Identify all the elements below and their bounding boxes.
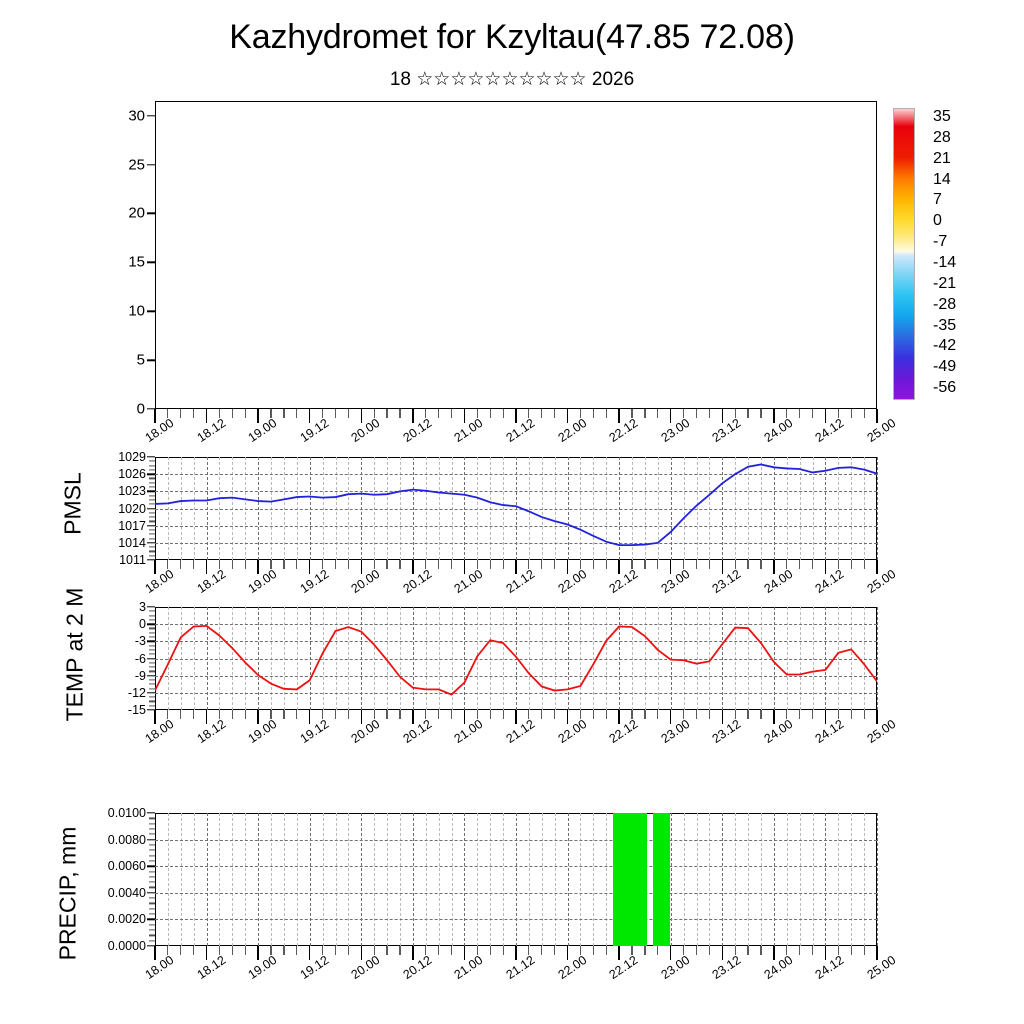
x-tick-minor bbox=[644, 710, 645, 719]
x-tick-minor bbox=[709, 560, 710, 569]
x-tick-minor bbox=[296, 710, 297, 719]
x-tick-minor bbox=[812, 409, 813, 418]
y-tick-minor bbox=[149, 828, 155, 829]
x-axis-label: 24.12 bbox=[813, 567, 847, 596]
pmsl-line-chart bbox=[155, 457, 877, 560]
colorbar-tick-label: -42 bbox=[933, 337, 956, 355]
y-axis-label: 3 bbox=[139, 600, 155, 614]
x-axis-label: 25.00 bbox=[865, 567, 899, 596]
x-axis-label: 19.00 bbox=[246, 567, 280, 596]
x-axis-label: 22.00 bbox=[555, 717, 589, 746]
x-axis-label: 20.00 bbox=[349, 953, 383, 982]
x-tick-minor bbox=[245, 560, 246, 569]
x-axis-label: 19.00 bbox=[246, 953, 280, 982]
x-tick-minor bbox=[180, 409, 181, 418]
x-tick-minor bbox=[541, 946, 542, 955]
grid-line-vertical bbox=[258, 813, 259, 946]
y-tick-minor bbox=[149, 823, 155, 824]
x-tick-minor bbox=[438, 710, 439, 719]
x-tick-major bbox=[257, 946, 258, 960]
grid-line-vertical bbox=[310, 813, 311, 946]
grid-line-vertical bbox=[439, 813, 440, 946]
y-tick-minor bbox=[149, 850, 155, 851]
precip-bar bbox=[613, 813, 647, 946]
x-tick-minor bbox=[696, 560, 697, 569]
colorbar: 3528211470-7-14-21-28-35-42-49-56 bbox=[893, 108, 915, 400]
y-axis-label: 30 bbox=[128, 107, 155, 124]
x-tick-major bbox=[876, 946, 877, 960]
y-tick-minor bbox=[149, 465, 155, 466]
grid-line-vertical bbox=[503, 813, 504, 946]
x-tick-major bbox=[567, 409, 568, 423]
grid-line-vertical bbox=[735, 813, 736, 946]
y-tick-minor bbox=[149, 876, 155, 877]
colorbar-tick-label: 28 bbox=[933, 129, 951, 147]
pmsl-series-line bbox=[155, 464, 877, 545]
x-tick-major bbox=[670, 409, 671, 423]
x-axis-label: 20.12 bbox=[400, 953, 434, 982]
x-tick-major bbox=[773, 710, 774, 724]
x-axis-label: 19.12 bbox=[297, 953, 331, 982]
temp-line-chart bbox=[155, 607, 877, 710]
grid-line-vertical bbox=[207, 813, 208, 946]
x-axis-label: 22.00 bbox=[555, 567, 589, 596]
y-tick-minor bbox=[149, 882, 155, 883]
x-tick-minor bbox=[386, 560, 387, 569]
y-axis-label: 0.0100 bbox=[108, 806, 155, 820]
x-axis-label: 24.00 bbox=[761, 567, 795, 596]
x-tick-minor bbox=[554, 710, 555, 719]
x-tick-minor bbox=[451, 409, 452, 418]
x-tick-minor bbox=[709, 710, 710, 719]
y-tick-minor bbox=[149, 684, 155, 685]
y-axis-label: 0.0080 bbox=[108, 833, 155, 847]
y-axis-label: 0.0060 bbox=[108, 859, 155, 873]
x-tick-minor bbox=[593, 409, 594, 418]
precip-bar bbox=[653, 813, 670, 946]
x-tick-minor bbox=[593, 560, 594, 569]
x-tick-minor bbox=[760, 409, 761, 418]
x-tick-minor bbox=[232, 710, 233, 719]
grid-line-vertical bbox=[825, 813, 826, 946]
grid-line-vertical bbox=[555, 813, 556, 946]
x-tick-minor bbox=[399, 409, 400, 418]
grid-line-vertical bbox=[387, 813, 388, 946]
x-axis-label: 19.12 bbox=[297, 717, 331, 746]
x-tick-minor bbox=[709, 946, 710, 955]
y-tick-minor bbox=[149, 935, 155, 936]
x-axis-label: 20.12 bbox=[400, 416, 434, 445]
x-tick-minor bbox=[657, 560, 658, 569]
y-tick-minor bbox=[149, 534, 155, 535]
grid-line-vertical bbox=[838, 813, 839, 946]
x-axis-label: 25.00 bbox=[865, 953, 899, 982]
x-tick-minor bbox=[799, 710, 800, 719]
grid-line-horizontal bbox=[155, 840, 877, 841]
x-tick-minor bbox=[283, 946, 284, 955]
x-tick-minor bbox=[399, 560, 400, 569]
x-axis-label: 21.12 bbox=[504, 416, 538, 445]
x-tick-minor bbox=[799, 560, 800, 569]
x-axis-label: 21.12 bbox=[504, 567, 538, 596]
x-tick-major bbox=[773, 946, 774, 960]
x-tick-minor bbox=[335, 560, 336, 569]
x-axis-label: 21.00 bbox=[452, 717, 486, 746]
x-axis-label: 20.12 bbox=[400, 567, 434, 596]
y-tick-minor bbox=[149, 469, 155, 470]
x-axis-label: 21.00 bbox=[452, 416, 486, 445]
x-tick-minor bbox=[760, 560, 761, 569]
y-tick-minor bbox=[149, 860, 155, 861]
grid-line-vertical bbox=[606, 813, 607, 946]
temp-series-line bbox=[155, 626, 877, 695]
grid-line-vertical bbox=[722, 813, 723, 946]
grid-line-vertical bbox=[877, 607, 878, 710]
x-tick-minor bbox=[335, 946, 336, 955]
x-tick-minor bbox=[193, 409, 194, 418]
x-axis-label: 22.12 bbox=[607, 717, 641, 746]
x-axis-label: 20.12 bbox=[400, 717, 434, 746]
x-axis-label: 18.00 bbox=[143, 717, 177, 746]
y-tick-minor bbox=[149, 555, 155, 556]
x-tick-major bbox=[361, 946, 362, 960]
x-tick-minor bbox=[593, 946, 594, 955]
x-tick-minor bbox=[503, 946, 504, 955]
x-tick-minor bbox=[386, 409, 387, 418]
x-tick-major bbox=[412, 710, 413, 724]
x-axis-label: 23.00 bbox=[658, 953, 692, 982]
x-tick-major bbox=[825, 946, 826, 960]
x-tick-minor bbox=[503, 710, 504, 719]
grid-line-vertical bbox=[361, 813, 362, 946]
precip-panel: 0.00000.00200.00400.00600.00800.010018.0… bbox=[155, 813, 877, 946]
x-tick-minor bbox=[864, 409, 865, 418]
x-tick-minor bbox=[644, 409, 645, 418]
y-tick-minor bbox=[149, 705, 155, 706]
grid-line-vertical bbox=[542, 813, 543, 946]
x-tick-minor bbox=[503, 409, 504, 418]
x-tick-major bbox=[515, 560, 516, 574]
x-axis-label: 21.12 bbox=[504, 953, 538, 982]
y-tick-minor bbox=[149, 666, 155, 667]
y-tick-minor bbox=[149, 887, 155, 888]
y-axis-label: 1029 bbox=[118, 450, 155, 464]
x-tick-major bbox=[825, 710, 826, 724]
x-tick-major bbox=[361, 409, 362, 423]
x-tick-minor bbox=[245, 409, 246, 418]
x-tick-minor bbox=[606, 560, 607, 569]
grid-line-vertical bbox=[426, 813, 427, 946]
x-tick-minor bbox=[864, 710, 865, 719]
x-axis-label: 19.00 bbox=[246, 416, 280, 445]
x-tick-minor bbox=[812, 946, 813, 955]
y-axis-label: 5 bbox=[137, 352, 155, 369]
x-tick-major bbox=[773, 409, 774, 423]
x-tick-minor bbox=[283, 409, 284, 418]
x-tick-minor bbox=[696, 710, 697, 719]
grid-line-horizontal bbox=[155, 866, 877, 867]
y-tick-minor bbox=[149, 654, 155, 655]
x-tick-minor bbox=[864, 946, 865, 955]
x-tick-major bbox=[206, 946, 207, 960]
x-axis-label: 19.00 bbox=[246, 717, 280, 746]
grid-line-vertical bbox=[297, 813, 298, 946]
x-tick-minor bbox=[696, 409, 697, 418]
x-tick-minor bbox=[812, 560, 813, 569]
y-axis-label: 20 bbox=[128, 205, 155, 222]
grid-line-vertical bbox=[709, 813, 710, 946]
x-tick-major bbox=[206, 560, 207, 574]
colorbar-tick-label: -35 bbox=[933, 317, 956, 335]
x-tick-major bbox=[412, 560, 413, 574]
x-tick-major bbox=[567, 946, 568, 960]
subtitle-year: 2026 bbox=[592, 69, 634, 90]
x-axis-label: 22.00 bbox=[555, 953, 589, 982]
grid-line-vertical bbox=[593, 813, 594, 946]
y-tick-minor bbox=[149, 632, 155, 633]
x-tick-minor bbox=[438, 560, 439, 569]
subtitle-month-glyphs: ☆☆☆☆☆☆☆☆☆☆ bbox=[416, 69, 586, 90]
x-tick-major bbox=[876, 710, 877, 724]
y-tick-minor bbox=[149, 671, 155, 672]
x-tick-minor bbox=[232, 946, 233, 955]
x-tick-minor bbox=[644, 946, 645, 955]
colorbar-tick-label: -7 bbox=[933, 233, 947, 251]
x-tick-minor bbox=[490, 409, 491, 418]
x-tick-minor bbox=[399, 710, 400, 719]
x-axis-label: 23.12 bbox=[710, 416, 744, 445]
x-tick-minor bbox=[503, 560, 504, 569]
x-tick-minor bbox=[709, 409, 710, 418]
x-tick-major bbox=[464, 409, 465, 423]
x-tick-minor bbox=[245, 946, 246, 955]
x-axis-label: 21.12 bbox=[504, 717, 538, 746]
x-axis-label: 25.00 bbox=[865, 717, 899, 746]
grid-line-vertical bbox=[813, 813, 814, 946]
x-tick-minor bbox=[438, 946, 439, 955]
wind-barb-overlay bbox=[155, 101, 877, 409]
grid-line-vertical bbox=[864, 813, 865, 946]
x-tick-minor bbox=[760, 946, 761, 955]
x-tick-major bbox=[825, 409, 826, 423]
x-axis-label: 18.00 bbox=[143, 953, 177, 982]
grid-line-horizontal bbox=[155, 893, 877, 894]
x-tick-major bbox=[412, 946, 413, 960]
x-axis-label: 19.12 bbox=[297, 567, 331, 596]
grid-line-vertical bbox=[697, 813, 698, 946]
grid-line-vertical bbox=[323, 813, 324, 946]
y-tick-minor bbox=[149, 903, 155, 904]
x-tick-minor bbox=[180, 710, 181, 719]
y-axis-label: 25 bbox=[128, 156, 155, 173]
y-axis-label: 15 bbox=[128, 254, 155, 271]
x-tick-major bbox=[722, 560, 723, 574]
x-tick-major bbox=[618, 946, 619, 960]
y-tick-minor bbox=[149, 499, 155, 500]
x-tick-major bbox=[309, 710, 310, 724]
y-tick-minor bbox=[149, 701, 155, 702]
x-tick-minor bbox=[193, 946, 194, 955]
pmsl-panel: 101110141017102010231026102918.0018.1219… bbox=[155, 457, 877, 560]
x-tick-major bbox=[515, 710, 516, 724]
x-tick-minor bbox=[747, 560, 748, 569]
y-tick-minor bbox=[149, 521, 155, 522]
x-tick-major bbox=[670, 560, 671, 574]
colorbar-tick-label: 14 bbox=[933, 171, 951, 189]
x-tick-minor bbox=[541, 409, 542, 418]
x-tick-major bbox=[257, 409, 258, 423]
y-tick-minor bbox=[149, 908, 155, 909]
x-axis-label: 20.00 bbox=[349, 717, 383, 746]
x-tick-major bbox=[361, 710, 362, 724]
grid-line-vertical bbox=[877, 813, 878, 946]
x-tick-major bbox=[825, 560, 826, 574]
x-axis-label: 24.12 bbox=[813, 416, 847, 445]
x-tick-minor bbox=[760, 710, 761, 719]
x-tick-minor bbox=[348, 560, 349, 569]
x-tick-minor bbox=[451, 710, 452, 719]
x-tick-minor bbox=[335, 710, 336, 719]
x-axis-label: 23.12 bbox=[710, 953, 744, 982]
x-axis-label: 18.12 bbox=[194, 717, 228, 746]
x-tick-major bbox=[206, 710, 207, 724]
x-axis-label: 22.12 bbox=[607, 953, 641, 982]
y-tick-minor bbox=[149, 929, 155, 930]
x-tick-minor bbox=[554, 409, 555, 418]
y-axis-label: 0.0020 bbox=[108, 912, 155, 926]
x-tick-minor bbox=[490, 946, 491, 955]
grid-line-vertical bbox=[232, 813, 233, 946]
x-tick-minor bbox=[193, 560, 194, 569]
x-tick-minor bbox=[851, 710, 852, 719]
x-axis-label: 18.12 bbox=[194, 567, 228, 596]
x-axis-label: 23.00 bbox=[658, 416, 692, 445]
x-tick-minor bbox=[296, 409, 297, 418]
x-tick-minor bbox=[348, 946, 349, 955]
x-tick-major bbox=[515, 409, 516, 423]
grid-line-vertical bbox=[413, 813, 414, 946]
x-axis-label: 20.00 bbox=[349, 567, 383, 596]
x-tick-minor bbox=[348, 710, 349, 719]
grid-line-vertical bbox=[748, 813, 749, 946]
x-axis-label: 23.00 bbox=[658, 567, 692, 596]
colorbar-tick-label: 21 bbox=[933, 150, 951, 168]
x-tick-minor bbox=[747, 710, 748, 719]
cross-section-panel: 18.0018.1219.0019.1220.0020.1221.0021.12… bbox=[155, 101, 877, 409]
colorbar-tick-label: -21 bbox=[933, 275, 956, 293]
x-tick-major bbox=[670, 946, 671, 960]
y-tick-minor bbox=[149, 538, 155, 539]
y-tick-minor bbox=[149, 516, 155, 517]
x-tick-major bbox=[464, 946, 465, 960]
y-tick-minor bbox=[149, 940, 155, 941]
x-axis-label: 22.00 bbox=[555, 416, 589, 445]
x-tick-minor bbox=[799, 409, 800, 418]
y-tick-minor bbox=[149, 504, 155, 505]
x-tick-minor bbox=[799, 946, 800, 955]
grid-line-vertical bbox=[374, 813, 375, 946]
x-tick-minor bbox=[606, 946, 607, 955]
x-axis-label: 23.12 bbox=[710, 717, 744, 746]
x-tick-major bbox=[412, 409, 413, 423]
x-tick-major bbox=[464, 560, 465, 574]
y-axis-label: 0 bbox=[137, 401, 155, 418]
grid-line-vertical bbox=[452, 813, 453, 946]
grid-line-vertical bbox=[529, 813, 530, 946]
grid-line-horizontal bbox=[155, 919, 877, 920]
grid-line-vertical bbox=[774, 813, 775, 946]
y-axis-label: 0.0000 bbox=[108, 939, 155, 953]
y-tick-minor bbox=[149, 913, 155, 914]
x-axis-label: 24.12 bbox=[813, 717, 847, 746]
subtitle-day: 18 bbox=[390, 69, 411, 90]
x-tick-minor bbox=[851, 946, 852, 955]
page-title: Kazhydromet for Kzyltau(47.85 72.08) bbox=[0, 18, 1024, 57]
x-tick-major bbox=[154, 946, 155, 960]
x-tick-minor bbox=[335, 409, 336, 418]
grid-line-vertical bbox=[761, 813, 762, 946]
y-tick-minor bbox=[149, 688, 155, 689]
x-axis-label: 18.12 bbox=[194, 416, 228, 445]
x-tick-minor bbox=[386, 710, 387, 719]
x-axis-label: 23.00 bbox=[658, 717, 692, 746]
x-axis-label: 22.12 bbox=[607, 416, 641, 445]
x-tick-major bbox=[567, 710, 568, 724]
x-tick-minor bbox=[245, 710, 246, 719]
grid-line-vertical bbox=[400, 813, 401, 946]
x-tick-minor bbox=[541, 560, 542, 569]
precip-axis-title: PRECIP, mm bbox=[55, 764, 82, 1024]
x-axis-label: 24.00 bbox=[761, 953, 795, 982]
y-tick-minor bbox=[149, 855, 155, 856]
grid-line-vertical bbox=[477, 813, 478, 946]
x-tick-minor bbox=[812, 710, 813, 719]
x-axis-label: 21.00 bbox=[452, 567, 486, 596]
grid-line-vertical bbox=[787, 813, 788, 946]
x-tick-major bbox=[515, 946, 516, 960]
grid-line-vertical bbox=[684, 813, 685, 946]
x-tick-minor bbox=[606, 710, 607, 719]
x-tick-minor bbox=[386, 946, 387, 955]
grid-line-vertical bbox=[671, 813, 672, 946]
grid-line-vertical bbox=[877, 457, 878, 560]
grid-line-vertical bbox=[219, 813, 220, 946]
x-tick-major bbox=[773, 560, 774, 574]
x-axis-label: 18.12 bbox=[194, 953, 228, 982]
x-axis-label: 18.00 bbox=[143, 416, 177, 445]
y-tick-minor bbox=[149, 649, 155, 650]
grid-line-vertical bbox=[181, 813, 182, 946]
x-tick-major bbox=[876, 409, 877, 423]
x-axis-label: 24.12 bbox=[813, 953, 847, 982]
x-tick-minor bbox=[193, 710, 194, 719]
x-tick-major bbox=[257, 710, 258, 724]
grid-line-vertical bbox=[245, 813, 246, 946]
x-tick-minor bbox=[180, 946, 181, 955]
y-tick-minor bbox=[149, 615, 155, 616]
x-tick-minor bbox=[657, 409, 658, 418]
y-tick-minor bbox=[149, 486, 155, 487]
x-tick-minor bbox=[490, 710, 491, 719]
x-tick-major bbox=[618, 409, 619, 423]
grid-line-vertical bbox=[516, 813, 517, 946]
x-tick-minor bbox=[657, 946, 658, 955]
x-tick-major bbox=[618, 560, 619, 574]
x-tick-minor bbox=[554, 560, 555, 569]
x-tick-major bbox=[206, 409, 207, 423]
x-axis-label: 20.00 bbox=[349, 416, 383, 445]
grid-line-vertical bbox=[284, 813, 285, 946]
